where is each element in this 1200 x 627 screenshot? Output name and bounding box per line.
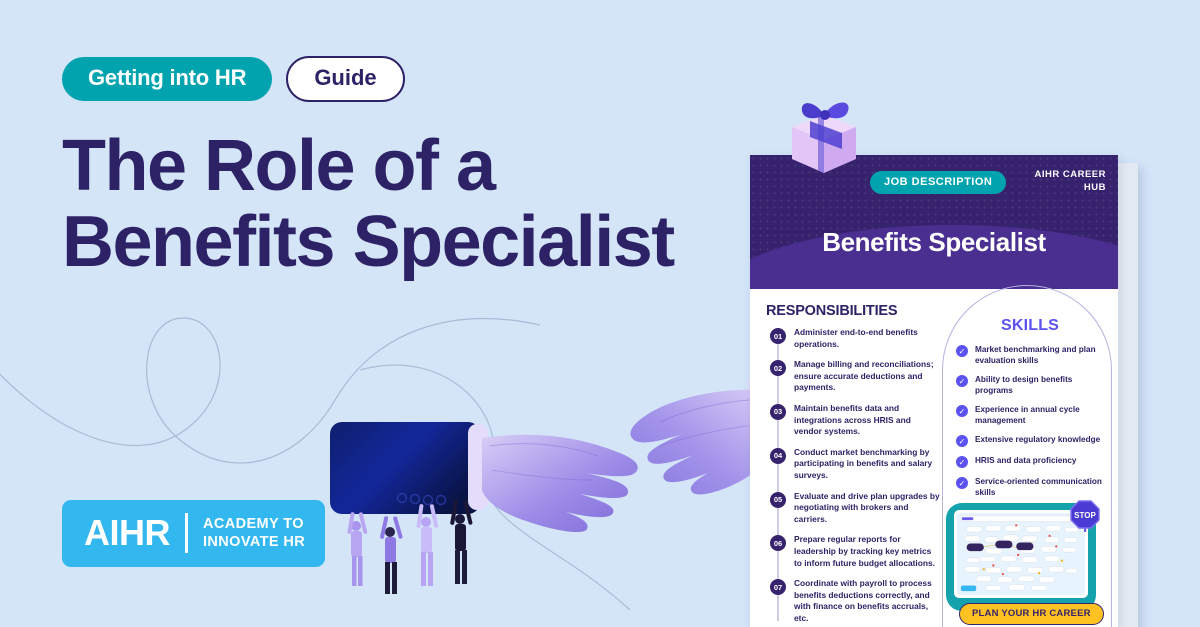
logo-wordmark: AIHR (84, 515, 170, 551)
document-page: JOB DESCRIPTION AIHR CAREER HUB Benefits… (750, 155, 1118, 627)
responsibility-text: Conduct market benchmarking by participa… (794, 447, 940, 482)
responsibility-item: 06 Prepare regular reports for leadershi… (766, 534, 940, 569)
skill-item: ✓ Service-oriented communication skills (956, 476, 1104, 498)
career-hub-label: AIHR CAREER HUB (1035, 169, 1106, 195)
skill-item: ✓ Market benchmarking and plan evaluatio… (956, 344, 1104, 366)
career-map-graph (957, 513, 1085, 595)
logo-divider (185, 513, 188, 553)
responsibility-item: 07 Coordinate with payroll to process be… (766, 578, 940, 624)
skill-text: HRIS and data proficiency (975, 455, 1076, 468)
career-map-canvas (957, 513, 1085, 595)
logo-tagline-line-2: INNOVATE HR (203, 534, 305, 550)
responsibility-number: 05 (770, 492, 786, 508)
job-description-document[interactable]: JOB DESCRIPTION AIHR CAREER HUB Benefits… (750, 155, 1130, 627)
check-icon: ✓ (956, 435, 968, 447)
skill-item: ✓ HRIS and data proficiency (956, 455, 1104, 468)
check-icon: ✓ (956, 345, 968, 357)
skill-item: ✓ Extensive regulatory knowledge (956, 434, 1104, 447)
responsibility-number: 03 (770, 404, 786, 420)
gift-box-icon (772, 93, 877, 185)
responsibility-text: Maintain benefits data and integrations … (794, 403, 940, 438)
logo-tagline: ACADEMY TO INNOVATE HR (203, 515, 305, 551)
page-title: The Role of a Benefits Specialist (62, 132, 752, 277)
check-icon: ✓ (956, 405, 968, 417)
skill-text: Extensive regulatory knowledge (975, 434, 1100, 447)
career-hub-line-1: AIHR CAREER (1035, 169, 1106, 180)
responsibility-number: 04 (770, 448, 786, 464)
career-hub-line-2: HUB (1084, 182, 1106, 193)
aihr-logo[interactable]: AIHR ACADEMY TO INNOVATE HR (62, 500, 325, 567)
responsibility-text: Administer end-to-end benefits operation… (794, 327, 940, 350)
skill-text: Ability to design benefits programs (975, 374, 1104, 396)
document-title: Benefits Specialist (750, 227, 1118, 258)
responsibility-number: 07 (770, 579, 786, 595)
check-icon: ✓ (956, 477, 968, 489)
stop-sign-text: STOP (1074, 511, 1096, 520)
headline-line-2: Benefits Specialist (62, 208, 752, 276)
check-icon: ✓ (956, 456, 968, 468)
responsibility-item: 05 Evaluate and drive plan upgrades by n… (766, 491, 940, 526)
responsibility-text: Coordinate with payroll to process benef… (794, 578, 940, 624)
skill-text: Experience in annual cycle management (975, 404, 1104, 426)
left-hand (330, 422, 638, 532)
skill-item: ✓ Experience in annual cycle management (956, 404, 1104, 426)
responsibility-item: 04 Conduct market benchmarking by partic… (766, 447, 940, 482)
responsibility-number: 06 (770, 535, 786, 551)
responsibility-item: 02 Manage billing and reconciliations; e… (766, 359, 940, 394)
badge-category[interactable]: Getting into HR (62, 57, 272, 101)
check-icon: ✓ (956, 375, 968, 387)
hero-left-column: Getting into HR Guide The Role of a Bene… (62, 56, 762, 277)
headline-line-1: The Role of a (62, 126, 495, 206)
skill-text: Market benchmarking and plan evaluation … (975, 344, 1104, 366)
logo-tagline-line-1: ACADEMY TO (203, 516, 304, 532)
responsibility-text: Manage billing and reconciliations; ensu… (794, 359, 940, 394)
responsibility-item: 01 Administer end-to-end benefits operat… (766, 327, 940, 350)
responsibility-item: 03 Maintain benefits data and integratio… (766, 403, 940, 438)
career-map-promo[interactable]: STOP PLAN YOUR HR CAREER (946, 503, 1116, 627)
stop-sign-icon: STOP (1068, 499, 1102, 533)
responsibility-text: Evaluate and drive plan upgrades by nego… (794, 491, 940, 526)
plan-your-hr-career-button[interactable]: PLAN YOUR HR CAREER (959, 603, 1104, 625)
responsibility-number: 02 (770, 360, 786, 376)
skill-text: Service-oriented communication skills (975, 476, 1104, 498)
responsibility-text: Prepare regular reports for leadership b… (794, 534, 940, 569)
lifting-people-group (347, 500, 473, 594)
badge-row: Getting into HR Guide (62, 56, 762, 102)
responsibilities-section: RESPONSIBILITIES 01 Administer end-to-en… (750, 303, 946, 627)
job-description-badge: JOB DESCRIPTION (870, 171, 1006, 194)
badge-type[interactable]: Guide (286, 56, 404, 102)
skills-heading: SKILLS (956, 317, 1104, 335)
responsibilities-heading: RESPONSIBILITIES (766, 303, 940, 319)
responsibility-number: 01 (770, 328, 786, 344)
skill-item: ✓ Ability to design benefits programs (956, 374, 1104, 396)
